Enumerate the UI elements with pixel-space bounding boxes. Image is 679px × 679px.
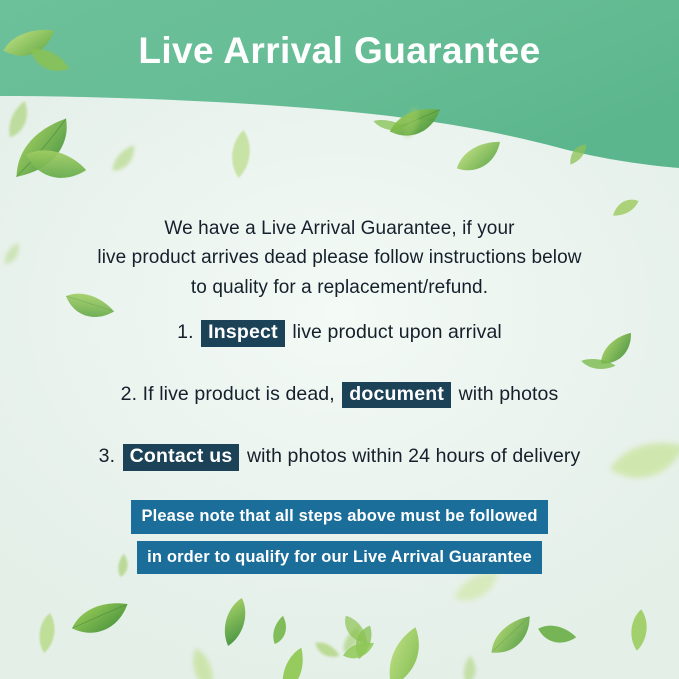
step-item-3: 3. Contact us with photos within 24 hour… (0, 444, 679, 471)
note-row: Please note that all steps above must be… (0, 500, 679, 534)
step-text-3: with photos within 24 hours of delivery (247, 445, 580, 467)
page-title: Live Arrival Guarantee (0, 30, 679, 73)
content-area: We have a Live Arrival Guarantee, if you… (0, 0, 679, 679)
intro-line-3: to quality for a replacement/refund. (50, 273, 629, 302)
intro-line-1: We have a Live Arrival Guarantee, if you… (50, 214, 629, 243)
step-text-2: with photos (459, 383, 559, 405)
step-number-3: 3. (99, 445, 115, 467)
note-bar-line-2: in order to qualify for our Live Arrival… (137, 541, 542, 575)
step-text-1: live product upon arrival (292, 321, 502, 343)
steps-list: 1. Inspect live product upon arrival 2. … (0, 320, 679, 471)
note-bar-line-1: Please note that all steps above must be… (131, 500, 547, 534)
intro-line-2: live product arrives dead please follow … (50, 243, 629, 272)
step-number-1: 1. (177, 321, 193, 343)
step-highlight-contact-us: Contact us (123, 444, 240, 471)
intro-paragraph: We have a Live Arrival Guarantee, if you… (50, 214, 629, 302)
step-highlight-inspect: Inspect (201, 320, 285, 347)
step-pretext-2: If live product is dead, (143, 383, 335, 405)
step-highlight-document: document (342, 382, 451, 409)
step-item-2: 2. If live product is dead, document wit… (0, 382, 679, 409)
note-row: in order to qualify for our Live Arrival… (0, 541, 679, 575)
note-banner-group: Please note that all steps above must be… (0, 500, 679, 574)
step-item-1: 1. Inspect live product upon arrival (0, 320, 679, 347)
step-number-2: 2. (121, 383, 137, 405)
live-arrival-guarantee-poster: Live Arrival Guarantee (0, 0, 679, 679)
